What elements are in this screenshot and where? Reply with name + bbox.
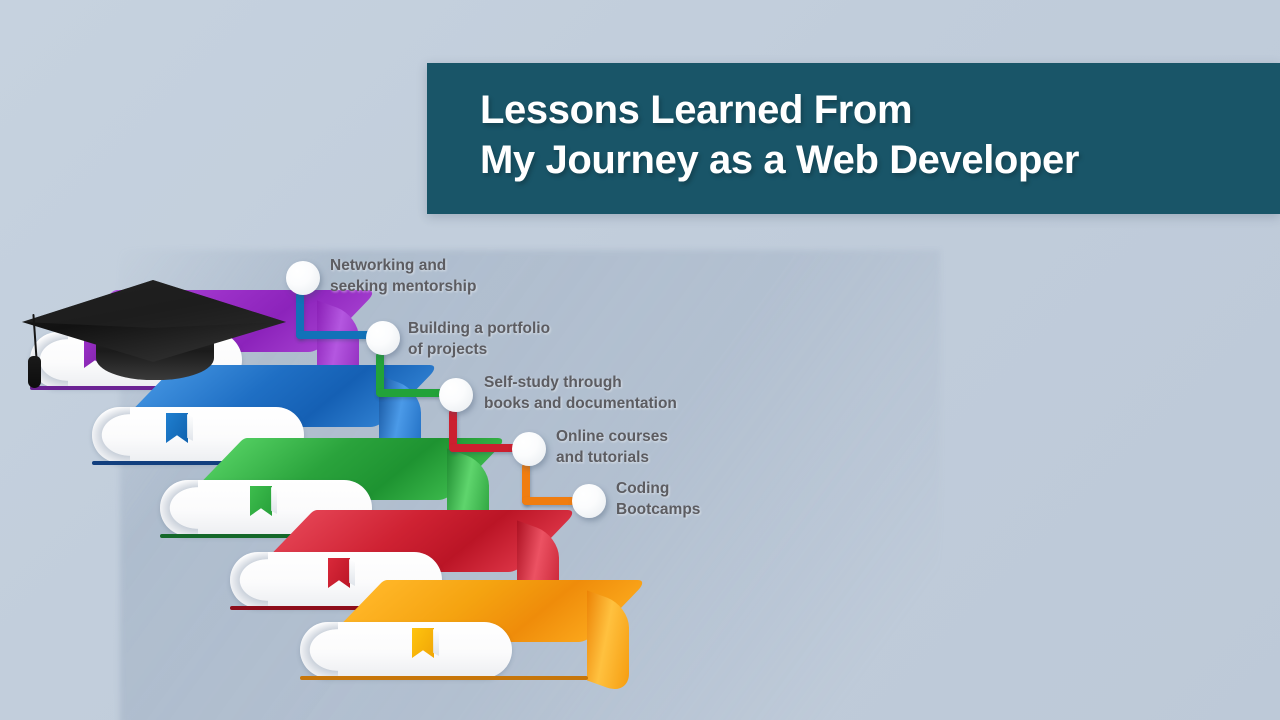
cap-board [18, 278, 288, 364]
step-node-networking[interactable] [286, 261, 320, 295]
step-node-courses[interactable] [512, 432, 546, 466]
step-label-courses: Online courses and tutorials [556, 427, 668, 468]
step-label-self-study: Self-study through books and documentati… [484, 373, 677, 414]
step-node-bootcamps[interactable] [572, 484, 606, 518]
infographic-canvas: Lessons Learned From My Journey as a Web… [0, 0, 1280, 720]
step-label-bootcamps: Coding Bootcamps [616, 479, 700, 520]
step-node-self-study[interactable] [439, 378, 473, 412]
step-label-portfolio: Building a portfolio of projects [408, 319, 550, 360]
graduation-cap-icon [18, 278, 288, 398]
step-label-networking: Networking and seeking mentorship [330, 256, 476, 297]
cap-tassel [28, 356, 41, 388]
step-node-portfolio[interactable] [366, 321, 400, 355]
